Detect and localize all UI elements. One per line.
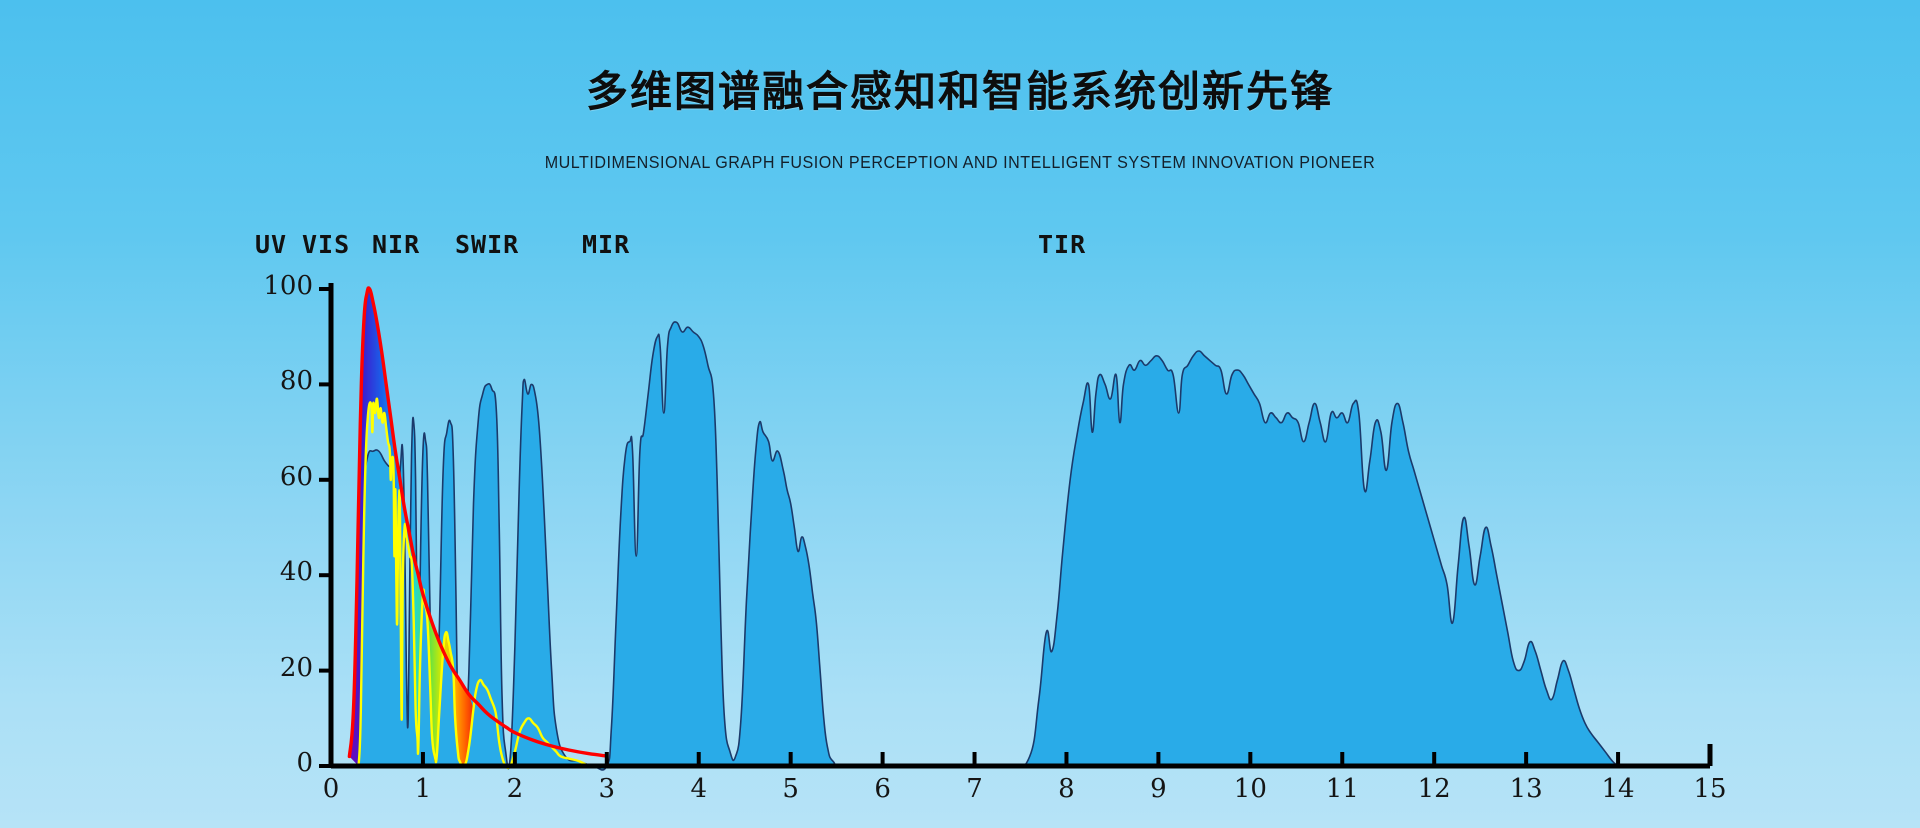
x-tick-10: 10 — [1225, 774, 1275, 804]
x-tick-9: 9 — [1133, 774, 1183, 804]
x-tick-5: 5 — [766, 774, 816, 804]
x-tick-4: 4 — [674, 774, 724, 804]
y-tick-20: 20 — [253, 653, 313, 683]
x-tick-0: 0 — [306, 774, 356, 804]
y-tick-100: 100 — [253, 271, 313, 301]
poster-canvas: 多维图谱融合感知和智能系统创新先锋 MULTIDIMENSIONAL GRAPH… — [0, 0, 1920, 828]
y-tick-0: 0 — [253, 748, 313, 778]
x-tick-13: 13 — [1501, 774, 1551, 804]
x-tick-3: 3 — [582, 774, 632, 804]
spectrum-chart — [0, 0, 1920, 828]
x-tick-14: 14 — [1593, 774, 1643, 804]
x-tick-12: 12 — [1409, 774, 1459, 804]
x-tick-8: 8 — [1041, 774, 1091, 804]
y-tick-80: 80 — [253, 366, 313, 396]
y-tick-60: 60 — [253, 462, 313, 492]
x-tick-15: 15 — [1685, 774, 1735, 804]
y-tick-40: 40 — [253, 557, 313, 587]
x-tick-1: 1 — [398, 774, 448, 804]
x-tick-11: 11 — [1317, 774, 1367, 804]
x-tick-2: 2 — [490, 774, 540, 804]
x-tick-7: 7 — [950, 774, 1000, 804]
x-tick-6: 6 — [858, 774, 908, 804]
